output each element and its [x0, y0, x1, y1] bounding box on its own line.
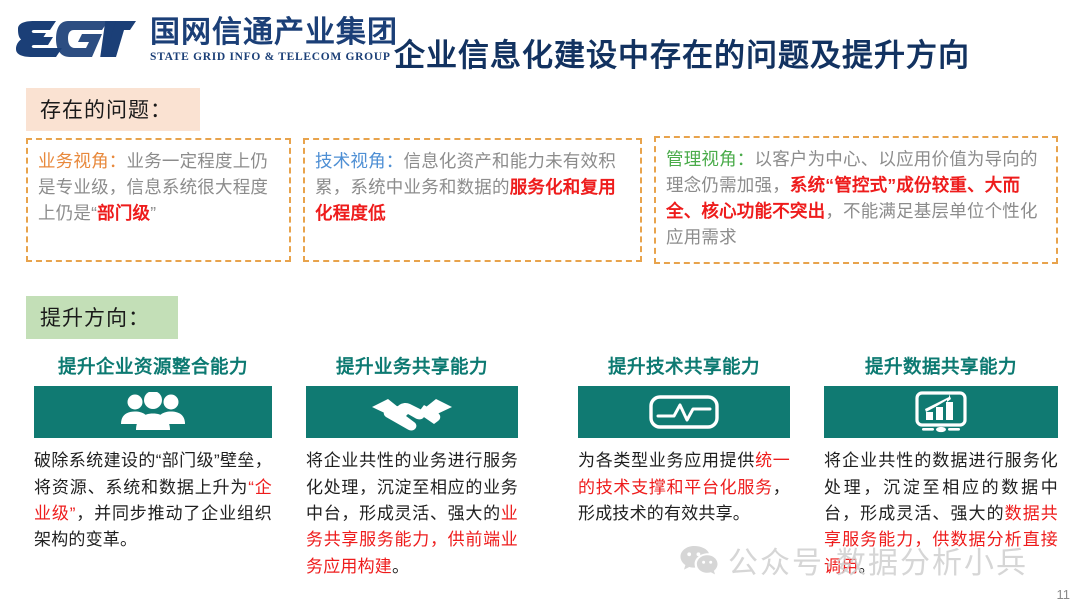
problem-box-technology: 技术视角：信息化资产和能力未有效积累，系统中业务和数据的服务化和复用化程度低: [303, 138, 642, 262]
direction-body-business-sharing: 将企业共性的业务进行服务化处理，沉淀至相应的业务中台，形成灵活、强大的业务共享服…: [306, 448, 518, 580]
direction-body-technology-a: 为各类型业务应用提供: [578, 451, 755, 470]
direction-icon-box-resource-integration: [34, 386, 272, 438]
direction-body-business-a: 将企业共性的业务进行服务化处理，沉淀至相应的业务中台，形成灵活、强大的: [306, 451, 518, 523]
direction-card-technology-sharing: 提升技术共享能力 为各类型业务应用提供统一的技术支撑和平台化服务，形成技术的有效…: [578, 356, 790, 527]
direction-card-resource-integration: 提升企业资源整合能力 破除系统建设的“部门级”壁垒，将资源、系统和数据上升为“企…: [34, 356, 272, 554]
company-name-cn: 国网信通产业集团: [150, 17, 398, 49]
direction-body-technology-sharing: 为各类型业务应用提供统一的技术支撑和平台化服务，形成技术的有效共享。: [578, 448, 790, 527]
direction-card-business-sharing: 提升业务共享能力 将企业共性的业务进行服务化处理，沉淀至相应的业务中台，形成灵活…: [306, 356, 518, 580]
page-number: 11: [1057, 587, 1071, 602]
section-tag-problems: 存在的问题：: [26, 88, 200, 131]
problem-lead-business: 业务视角：: [38, 151, 127, 171]
direction-body-business-b: 。: [392, 557, 409, 576]
company-logo: 国网信通产业集团 STATE GRID INFO & TELECOM GROUP: [12, 16, 398, 63]
pulse-wave-icon: [647, 392, 721, 432]
monitor-bar-chart-icon: [913, 391, 969, 433]
section-tag-directions: 提升方向：: [26, 296, 178, 339]
direction-heading-business-sharing: 提升业务共享能力: [306, 356, 518, 378]
problem-box-management: 管理视角：以客户为中心、以应用价值为导向的理念仍需加强，系统“管控式”成份较重、…: [654, 136, 1058, 264]
direction-body-data-b: 。: [858, 557, 875, 576]
company-name-block: 国网信通产业集团 STATE GRID INFO & TELECOM GROUP: [150, 16, 398, 63]
people-group-icon: [116, 392, 190, 432]
slide-root: 国网信通产业集团 STATE GRID INFO & TELECOM GROUP…: [0, 0, 1080, 608]
direction-body-resource-integration: 破除系统建设的“部门级”壁垒，将资源、系统和数据上升为“企业级”，并同步推动了企…: [34, 448, 272, 553]
direction-heading-data-sharing: 提升数据共享能力: [824, 356, 1058, 378]
direction-icon-box-business-sharing: [306, 386, 518, 438]
problem-highlight-business: 部门级: [97, 203, 150, 223]
sgit-logo-mark: [12, 16, 136, 62]
direction-icon-box-technology-sharing: [578, 386, 790, 438]
page-title: 企业信息化建设中存在的问题及提升方向: [394, 30, 970, 75]
problem-body-business-b: ”: [150, 203, 156, 223]
direction-body-resource-a: 破除系统建设的“部门级”壁垒，将资源、系统和数据上升为: [34, 451, 272, 496]
problem-lead-management: 管理视角：: [666, 149, 755, 169]
direction-card-data-sharing: 提升数据共享能力 将企业共性的数据进行服务化处理，沉淀至相应的数据中台，形成灵活…: [824, 356, 1058, 580]
problem-box-business: 业务视角：业务一定程度上仍是专业级，信息系统很大程度上仍是“部门级”: [26, 138, 291, 262]
wechat-icon: [680, 544, 718, 576]
direction-body-data-sharing: 将企业共性的数据进行服务化处理，沉淀至相应的数据中台，形成灵活、强大的数据共享服…: [824, 448, 1058, 580]
problem-lead-technology: 技术视角：: [315, 151, 404, 171]
direction-icon-box-data-sharing: [824, 386, 1058, 438]
direction-heading-resource-integration: 提升企业资源整合能力: [34, 356, 272, 378]
handshake-icon: [368, 391, 456, 433]
company-name-en: STATE GRID INFO & TELECOM GROUP: [150, 51, 398, 63]
direction-heading-technology-sharing: 提升技术共享能力: [578, 356, 790, 378]
slide-header: 国网信通产业集团 STATE GRID INFO & TELECOM GROUP…: [0, 0, 1080, 82]
